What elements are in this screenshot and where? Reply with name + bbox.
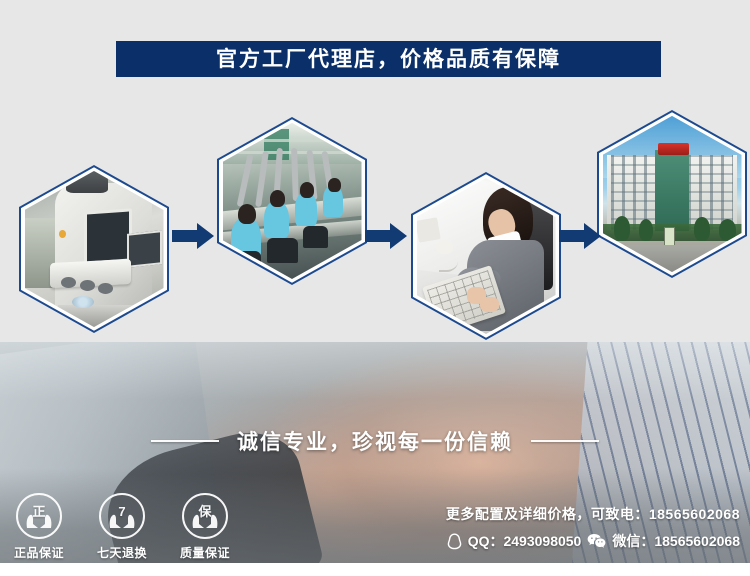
- photo-detail: [61, 277, 76, 288]
- photo-detail: [84, 208, 132, 264]
- hex-photo-clip: [223, 123, 362, 279]
- qq-penguin-icon: [447, 533, 462, 550]
- photo-detail: [436, 240, 453, 254]
- photo-detail: [238, 204, 256, 224]
- arrow-head: [390, 223, 407, 249]
- hands-shield-icon: 正: [16, 493, 62, 539]
- hands-quality-icon: 保: [182, 493, 228, 539]
- factory-assembly-line-photo: [223, 123, 362, 279]
- photo-detail: [303, 226, 328, 248]
- photo-detail: [270, 190, 285, 207]
- photo-detail: [127, 230, 162, 267]
- arrow-right-icon: [365, 223, 407, 249]
- wechat-label: 微信：18565602068: [612, 531, 740, 551]
- process-step-factory: [217, 117, 367, 285]
- photo-detail: [417, 217, 441, 242]
- arrow-shaft: [559, 230, 585, 242]
- hex-photo-clip: [603, 116, 742, 272]
- photo-detail: [328, 178, 341, 192]
- arrow-shaft: [172, 230, 198, 242]
- hands-icon: [24, 511, 54, 529]
- guarantee-badges: 正 正品保证 7 七天退换: [8, 493, 236, 561]
- photo-detail: [614, 216, 631, 241]
- laser-equipment-photo: [25, 171, 164, 327]
- contact-block: 更多配置及详细价格，可致电：18565602068 QQ：2493098050 …: [446, 504, 740, 551]
- photo-detail: [267, 238, 298, 263]
- photo-detail: [223, 139, 362, 142]
- hex-photo-clip: [25, 171, 164, 327]
- title-banner: 官方工厂代理店，价格品质有保障: [116, 41, 661, 77]
- photo-detail: [300, 182, 314, 198]
- photo-detail: [603, 245, 742, 272]
- badge-authentic: 正 正品保证: [8, 493, 70, 561]
- handshake-section: 诚信专业，珍视每一份信赖 正 正品保证 7: [0, 342, 750, 563]
- tagline: 诚信专业，珍视每一份信赖: [0, 426, 750, 456]
- photo-detail: [655, 150, 688, 231]
- customer-service-photo: [417, 178, 556, 334]
- promotional-banner: 官方工厂代理店，价格品质有保障: [0, 0, 750, 576]
- photo-detail: [639, 219, 653, 241]
- hands-icon: [190, 511, 220, 529]
- badge-label: 七天退换: [97, 544, 147, 561]
- im-line: QQ：2493098050 微信：18565602068: [446, 531, 740, 551]
- phone-line: 更多配置及详细价格，可致电：18565602068: [446, 504, 740, 524]
- photo-detail: [694, 217, 709, 240]
- qq-label: QQ：2493098050: [468, 531, 582, 551]
- photo-detail: [658, 143, 689, 155]
- tagline-text: 诚信专业，珍视每一份信赖: [237, 426, 513, 456]
- arrow-right-icon: [559, 223, 601, 249]
- wechat-icon: [587, 533, 606, 549]
- page-title: 官方工厂代理店，价格品质有保障: [216, 49, 561, 70]
- top-section: 官方工厂代理店，价格品质有保障: [0, 0, 750, 342]
- process-step-building: [597, 110, 747, 278]
- divider-left: [151, 440, 219, 442]
- badge-seven-day-return: 7 七天退换: [91, 493, 153, 561]
- badge-label: 正品保证: [14, 544, 64, 561]
- office-building-photo: [603, 116, 742, 272]
- photo-detail: [480, 297, 498, 313]
- divider-right: [531, 440, 599, 442]
- arrow-head: [584, 223, 601, 249]
- photo-detail: [719, 219, 736, 241]
- process-step-service: [411, 172, 561, 340]
- hands-icon: [107, 511, 137, 529]
- hex-photo-clip: [417, 178, 556, 334]
- arrow-shaft: [365, 230, 391, 242]
- photo-detail: [664, 227, 676, 248]
- arrow-right-icon: [172, 223, 214, 249]
- hands-seven-icon: 7: [99, 493, 145, 539]
- bottom-white-strip: [0, 563, 750, 576]
- badge-label: 质量保证: [180, 544, 230, 561]
- badge-quality: 保 质量保证: [174, 493, 236, 561]
- arrow-head: [197, 223, 214, 249]
- process-step-equipment: [19, 165, 169, 333]
